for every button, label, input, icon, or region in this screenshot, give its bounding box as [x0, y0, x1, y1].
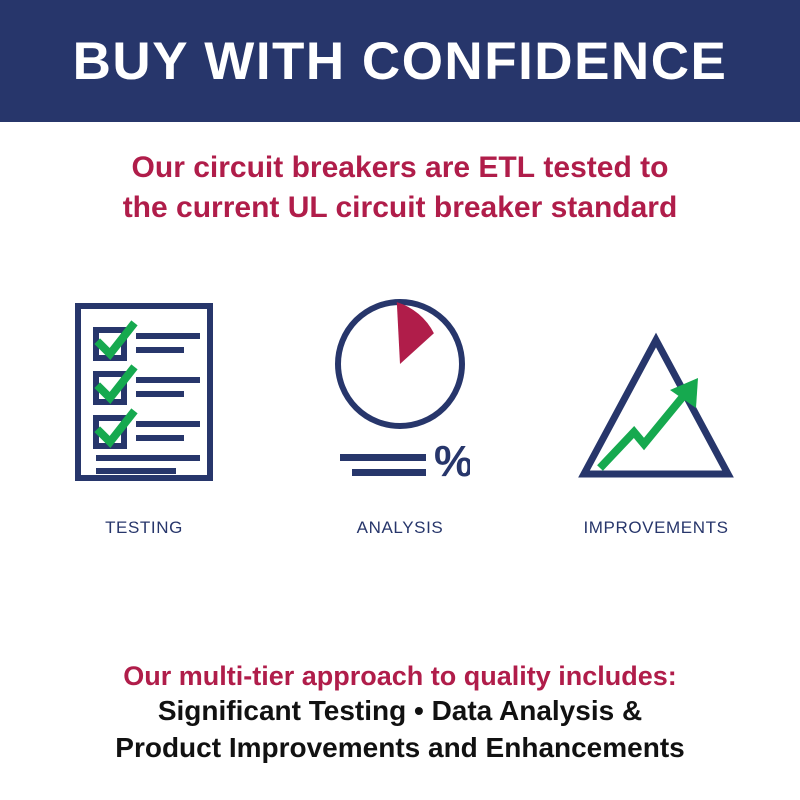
subheading-line-1: Our circuit breakers are ETL tested to — [40, 148, 760, 188]
feature-item-analysis: % ANALYSIS — [272, 286, 528, 538]
percent-symbol: % — [434, 437, 470, 482]
header-banner: BUY WITH CONFIDENCE — [0, 0, 800, 122]
pie-chart-icon-art: % — [330, 286, 470, 482]
feature-item-testing: TESTING — [16, 286, 272, 538]
growth-triangle-icon-art — [578, 286, 734, 482]
subheading-emphasis-ul-standard: UL circuit breaker standard — [288, 191, 678, 224]
growth-triangle-icon — [578, 332, 734, 482]
footer-line-1: Significant Testing • Data Analysis & — [30, 693, 770, 729]
footer-text-block: Our multi-tier approach to quality inclu… — [0, 659, 800, 766]
feature-label-analysis: ANALYSIS — [357, 518, 444, 538]
subheading-text-2a: the current — [123, 191, 288, 224]
feature-label-testing: TESTING — [105, 518, 183, 538]
footer-line-2: Product Improvements and Enhancements — [30, 730, 770, 766]
subheading-line-2: the current UL circuit breaker standard — [40, 188, 760, 228]
feature-label-improvements: IMPROVEMENTS — [583, 518, 728, 538]
footer-lead-line: Our multi-tier approach to quality inclu… — [30, 659, 770, 694]
subheading-emphasis-etl: ETL — [478, 151, 535, 184]
subheading-text-1b: tested to — [535, 151, 668, 184]
subheading-text-1a: Our circuit breakers are — [132, 151, 479, 184]
feature-item-improvements: IMPROVEMENTS — [528, 286, 784, 538]
checklist-icon-art — [74, 286, 214, 482]
feature-icon-row: TESTING % ANALYSIS — [0, 286, 800, 538]
page-title: BUY WITH CONFIDENCE — [73, 35, 728, 88]
checklist-icon — [74, 302, 214, 482]
pie-chart-icon: % — [330, 296, 470, 482]
subheading: Our circuit breakers are ETL tested to t… — [0, 148, 800, 228]
